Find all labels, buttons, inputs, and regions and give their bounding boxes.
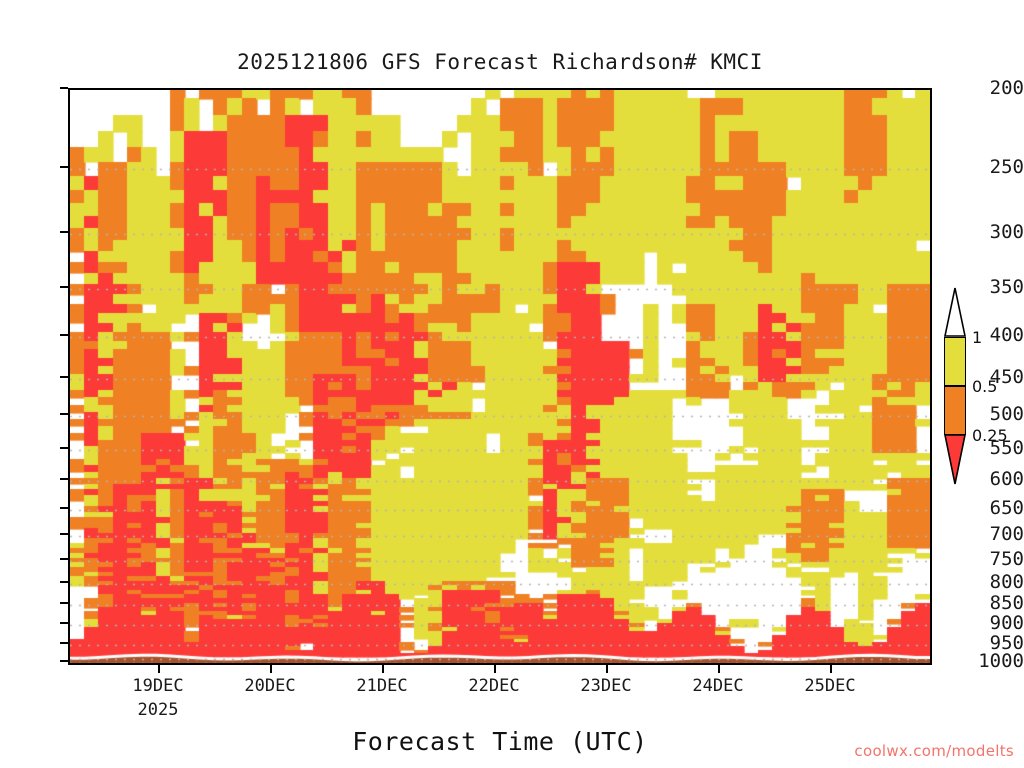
y-axis-tick-label: 600 bbox=[966, 468, 1024, 490]
y-axis-tick-mark bbox=[60, 660, 68, 662]
y-axis-tick-label: 300 bbox=[966, 221, 1024, 243]
y-axis-tick-mark bbox=[60, 166, 68, 168]
y-axis-tick-mark bbox=[60, 642, 68, 644]
richardson-heatmap-canvas bbox=[70, 90, 930, 663]
y-axis-tick-mark bbox=[60, 231, 68, 233]
colorbar-segment-yellow bbox=[944, 337, 966, 386]
x-axis-tick-label: 21DEC bbox=[322, 676, 442, 696]
x-axis-tick-label: 23DEC bbox=[546, 676, 666, 696]
colorbar-tick-label: 0.5 bbox=[972, 377, 997, 396]
y-axis-tick-mark bbox=[60, 478, 68, 480]
watermark: coolwx.com/modelts bbox=[0, 742, 1014, 760]
x-axis-tick-mark bbox=[718, 665, 720, 673]
y-axis-tick-label: 750 bbox=[966, 548, 1024, 570]
y-axis-tick-mark bbox=[60, 376, 68, 378]
y-axis-tick-label: 500 bbox=[966, 403, 1024, 425]
y-axis-tick-mark bbox=[60, 286, 68, 288]
y-axis-tick-mark bbox=[60, 558, 68, 560]
y-axis-tick-mark bbox=[60, 533, 68, 535]
y-axis-tick-label: 200 bbox=[966, 77, 1024, 99]
x-axis-tick-label: 19DEC bbox=[98, 676, 218, 696]
colorbar-segment-orange bbox=[944, 386, 966, 435]
x-axis-tick-mark bbox=[158, 665, 160, 673]
y-axis-tick-mark bbox=[60, 413, 68, 415]
y-axis-tick-mark bbox=[60, 87, 68, 89]
x-axis-tick-mark bbox=[494, 665, 496, 673]
y-axis-tick-label: 800 bbox=[966, 571, 1024, 593]
y-axis-tick-mark bbox=[60, 507, 68, 509]
x-axis-year-label: 2025 bbox=[98, 700, 218, 720]
heatmap-plot-area bbox=[68, 88, 932, 665]
x-axis-tick-label: 22DEC bbox=[434, 676, 554, 696]
x-axis-tick-mark bbox=[830, 665, 832, 673]
colorbar-tick-label: 0.25 bbox=[972, 426, 1008, 445]
y-axis-tick-mark bbox=[60, 602, 68, 604]
chart-stage: 2025121806 GFS Forecast Richardson# KMCI… bbox=[0, 0, 1024, 768]
x-axis-tick-mark bbox=[270, 665, 272, 673]
y-axis-tick-label: 1000 bbox=[966, 650, 1024, 672]
x-axis-tick-mark bbox=[606, 665, 608, 673]
y-axis-tick-mark bbox=[60, 334, 68, 336]
colorbar-tick-label: 1 bbox=[972, 328, 982, 347]
y-axis-tick-mark bbox=[60, 622, 68, 624]
colorbar-extend-bottom bbox=[944, 434, 966, 485]
x-axis-tick-mark bbox=[382, 665, 384, 673]
y-axis-tick-label: 350 bbox=[966, 276, 1024, 298]
page-title: 2025121806 GFS Forecast Richardson# KMCI bbox=[0, 50, 1000, 74]
colorbar: 10.50.25 bbox=[944, 287, 966, 485]
y-axis-tick-label: 850 bbox=[966, 592, 1024, 614]
y-axis-tick-label: 700 bbox=[966, 523, 1024, 545]
x-axis-tick-label: 24DEC bbox=[658, 676, 778, 696]
y-axis-tick-mark bbox=[60, 447, 68, 449]
colorbar-extend-top bbox=[944, 287, 966, 337]
y-axis-tick-mark bbox=[60, 581, 68, 583]
x-axis-tick-label: 25DEC bbox=[770, 676, 890, 696]
x-axis-tick-label: 20DEC bbox=[210, 676, 330, 696]
y-axis-tick-label: 650 bbox=[966, 497, 1024, 519]
y-axis-tick-label: 250 bbox=[966, 156, 1024, 178]
